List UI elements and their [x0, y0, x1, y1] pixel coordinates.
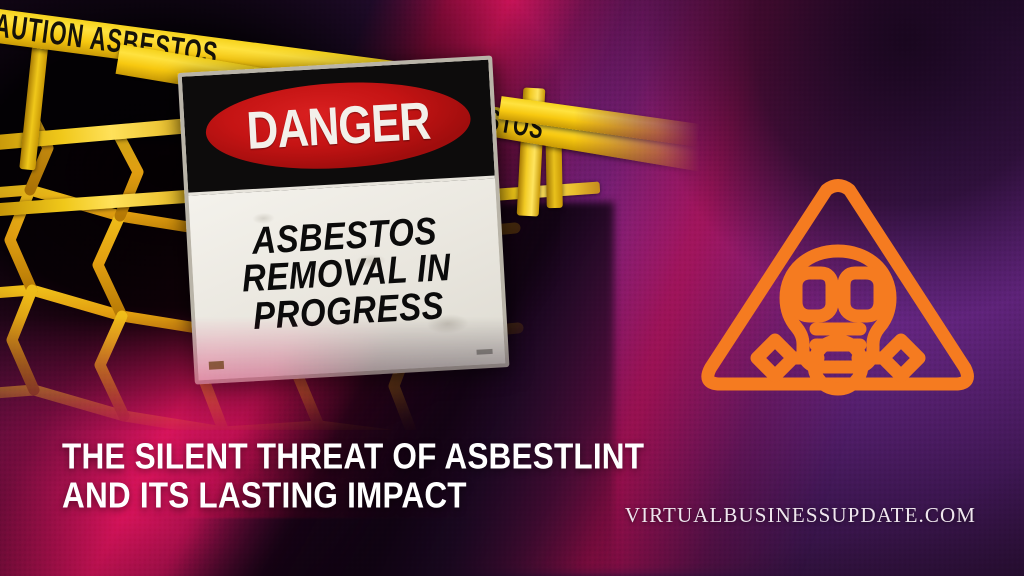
site-url-label: VIRTUALBUSINESSUPDATE.COM: [625, 503, 976, 528]
headline-line-1: THE SILENT THREAT OF ASBESTLINT: [62, 437, 752, 476]
sign-header-panel: DANGER: [182, 60, 495, 195]
sign-corner-sticker: [209, 361, 224, 370]
sign-body-panel: ASBESTOS REMOVAL IN PROGRESS: [188, 178, 505, 380]
sign-corner-mark: [476, 349, 492, 355]
sign-body-line-3: PROGRESS: [252, 284, 445, 338]
asbestos-site-photo: CAUTION ASBESTOS CAUTION ASBESTOS DANGER…: [0, 0, 700, 440]
danger-asbestos-sign: DANGER ASBESTOS REMOVAL IN PROGRESS: [178, 55, 510, 384]
danger-ellipse: DANGER: [204, 76, 472, 176]
sign-frame: DANGER ASBESTOS REMOVAL IN PROGRESS: [178, 55, 510, 384]
article-banner: CAUTION ASBESTOS CAUTION ASBESTOS DANGER…: [0, 0, 1024, 576]
danger-word: DANGER: [245, 90, 431, 161]
gas-mask-warning-triangle-icon: [697, 172, 979, 400]
